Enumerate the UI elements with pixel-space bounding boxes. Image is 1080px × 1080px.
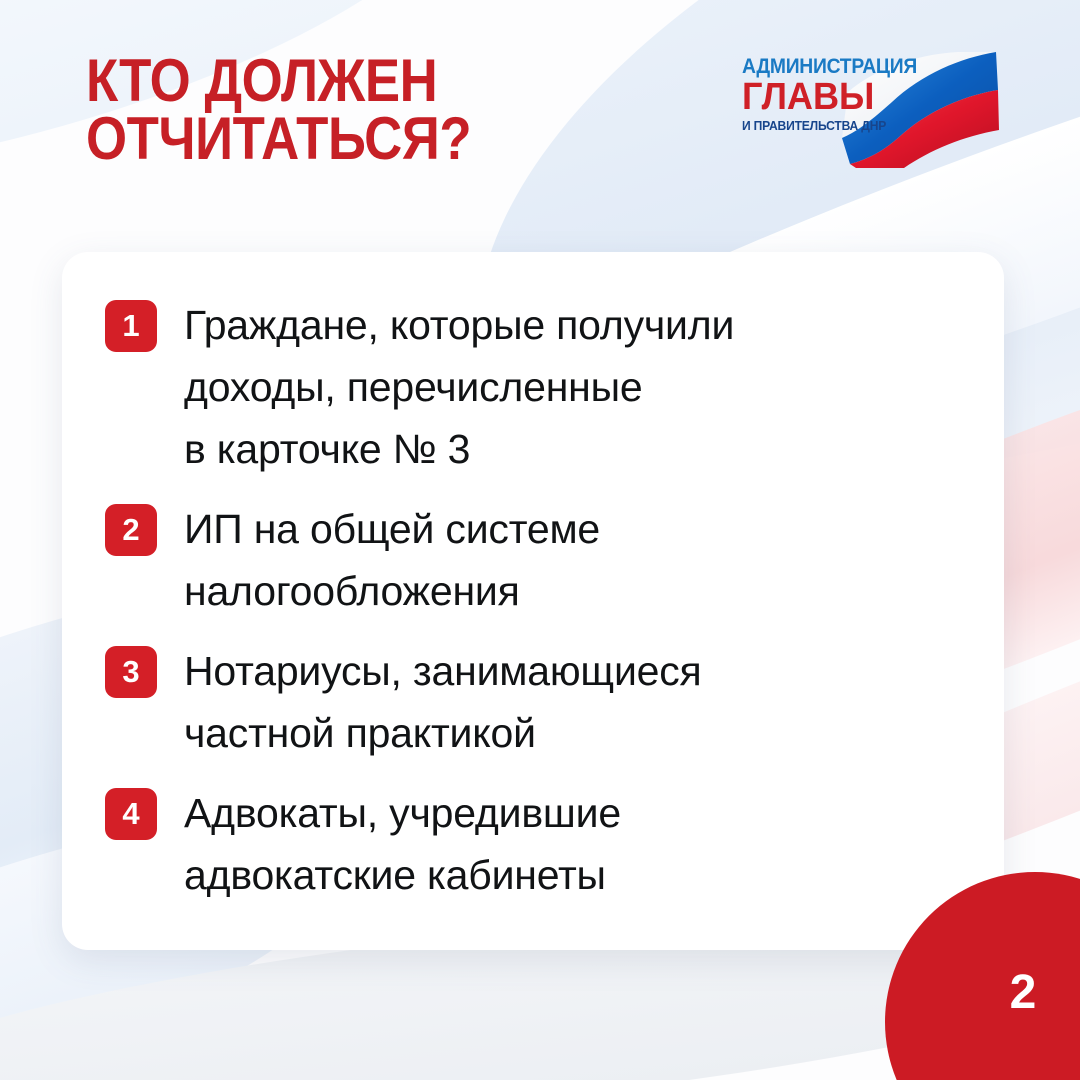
page-number: 2	[1000, 965, 1046, 1021]
list-item-number-badge: 4	[105, 788, 157, 840]
organization-logo: АДМИНИСТРАЦИЯ ГЛАВЫ И ПРАВИТЕЛЬСТВА ДНР	[736, 50, 994, 174]
list-item-number-badge: 1	[105, 300, 157, 352]
list-item-label: Адвокаты, учредившие адвокатские кабинет…	[184, 782, 621, 906]
slide-root: КТО ДОЛЖЕН ОТЧИТАТЬСЯ?	[0, 0, 1080, 1080]
list-item-number-badge: 2	[105, 504, 157, 556]
list-item: 1 Граждане, которые получили доходы, пер…	[105, 294, 974, 480]
logo-line-government: И ПРАВИТЕЛЬСТВА ДНР	[742, 118, 906, 134]
list-item: 4 Адвокаты, учредившие адвокатские кабин…	[105, 782, 974, 906]
list-item: 3 Нотариусы, занимающиеся частной практи…	[105, 640, 974, 764]
list-item-label: ИП на общей системе налогообложения	[184, 498, 600, 622]
logo-line-head: ГЛАВЫ	[742, 78, 909, 116]
list-item-label: Нотариусы, занимающиеся частной практико…	[184, 640, 702, 764]
logo-text-block: АДМИНИСТРАЦИЯ ГЛАВЫ И ПРАВИТЕЛЬСТВА ДНР	[742, 56, 918, 134]
requirements-list: 1 Граждане, которые получили доходы, пер…	[105, 294, 974, 906]
logo-line-administration: АДМИНИСТРАЦИЯ	[742, 56, 904, 78]
list-item-number-badge: 3	[105, 646, 157, 698]
content-card: 1 Граждане, которые получили доходы, пер…	[62, 252, 1004, 950]
list-item-label: Граждане, которые получили доходы, переч…	[184, 294, 734, 480]
page-title: КТО ДОЛЖЕН ОТЧИТАТЬСЯ?	[86, 52, 632, 168]
list-item: 2 ИП на общей системе налогообложения	[105, 498, 974, 622]
